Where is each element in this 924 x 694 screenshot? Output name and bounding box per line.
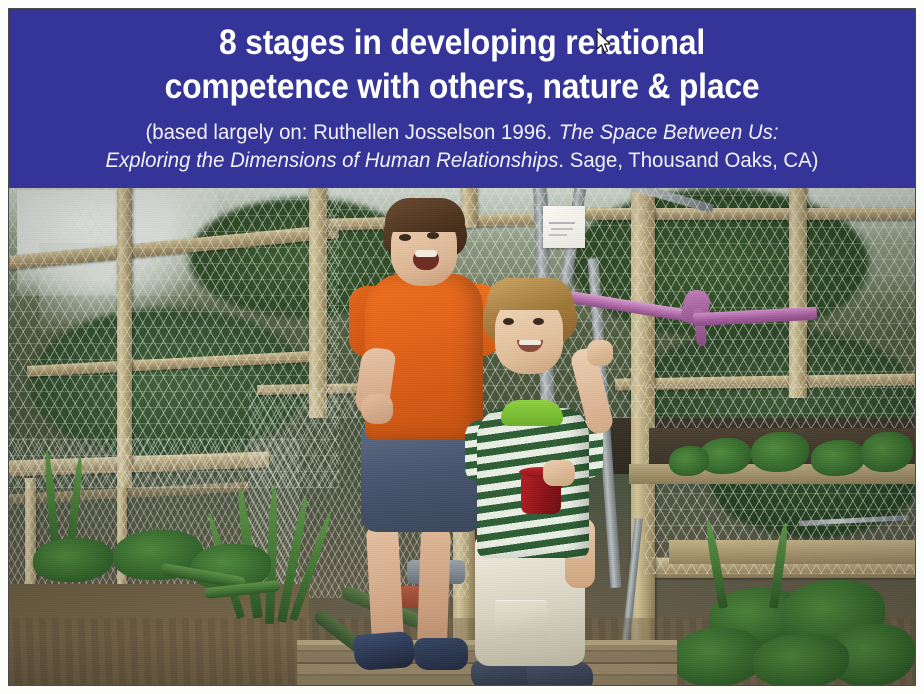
paper-note — [543, 206, 585, 248]
subtitle-plain-b: . Sage, Thousand Oaks, CA) — [558, 149, 818, 172]
garden-plant — [811, 440, 865, 476]
subtitle-line-1: (based largely on: Ruthellen Josselson 1… — [23, 119, 902, 147]
boy-orange-eye-right — [427, 232, 439, 239]
boy-orange-hand — [361, 394, 393, 424]
subtitle-citation: (based largely on: Ruthellen Josselson 1… — [9, 119, 915, 175]
garden-bed-wall — [669, 540, 915, 564]
paper-note-scribble — [551, 228, 573, 230]
boy-orange-hair-front — [385, 198, 465, 232]
garden-plant — [751, 432, 809, 472]
title-line-2: competence with others, nature & place — [50, 65, 874, 109]
page-title: 8 stages in developing relational compet… — [9, 21, 915, 109]
garden-plant — [669, 446, 709, 476]
chicken-wire-panel — [645, 188, 915, 388]
garden-plant — [861, 432, 913, 472]
garden-plant — [33, 538, 113, 582]
boy-orange-sandal-right — [414, 638, 468, 670]
subtitle-italic-subtitle: Exploring the Dimensions of Human Relati… — [106, 149, 559, 172]
slide-photograph — [9, 188, 915, 685]
boy-orange-leg-right — [417, 526, 451, 649]
boy-striped-hand-holding-cup — [543, 460, 575, 486]
boy-striped-hand-raised — [587, 340, 613, 366]
slide-frame: 8 stages in developing relational compet… — [0, 0, 924, 694]
boy-striped-eye-right — [533, 318, 544, 325]
paper-note-scribble — [549, 234, 567, 236]
subtitle-plain-a: (based largely on: Ruthellen Josselson 1… — [145, 121, 552, 144]
boy-orange-leg-left — [366, 523, 404, 649]
boy-orange-teeth — [415, 250, 437, 257]
boy-striped-teeth — [519, 340, 541, 345]
title-banner: 8 stages in developing relational compet… — [9, 9, 915, 188]
boy-orange-eye-left — [399, 234, 411, 241]
boy-striped-eye-left — [503, 318, 514, 325]
boy-striped-hair-front — [487, 278, 573, 310]
boy-striped-collar — [501, 400, 563, 426]
subtitle-line-2: Exploring the Dimensions of Human Relati… — [23, 147, 902, 175]
garden-plant — [753, 634, 849, 685]
title-line-1: 8 stages in developing relational — [50, 21, 874, 65]
boy-orange-sandal-left — [353, 631, 415, 671]
paper-note-scribble — [549, 222, 575, 224]
garden-plant — [673, 628, 763, 685]
subtitle-italic-title: The Space Between Us: — [552, 121, 778, 144]
boy-striped-shorts-pocket — [495, 600, 547, 638]
boy-orange-shorts — [361, 426, 481, 532]
slide-canvas: 8 stages in developing relational compet… — [8, 8, 916, 686]
